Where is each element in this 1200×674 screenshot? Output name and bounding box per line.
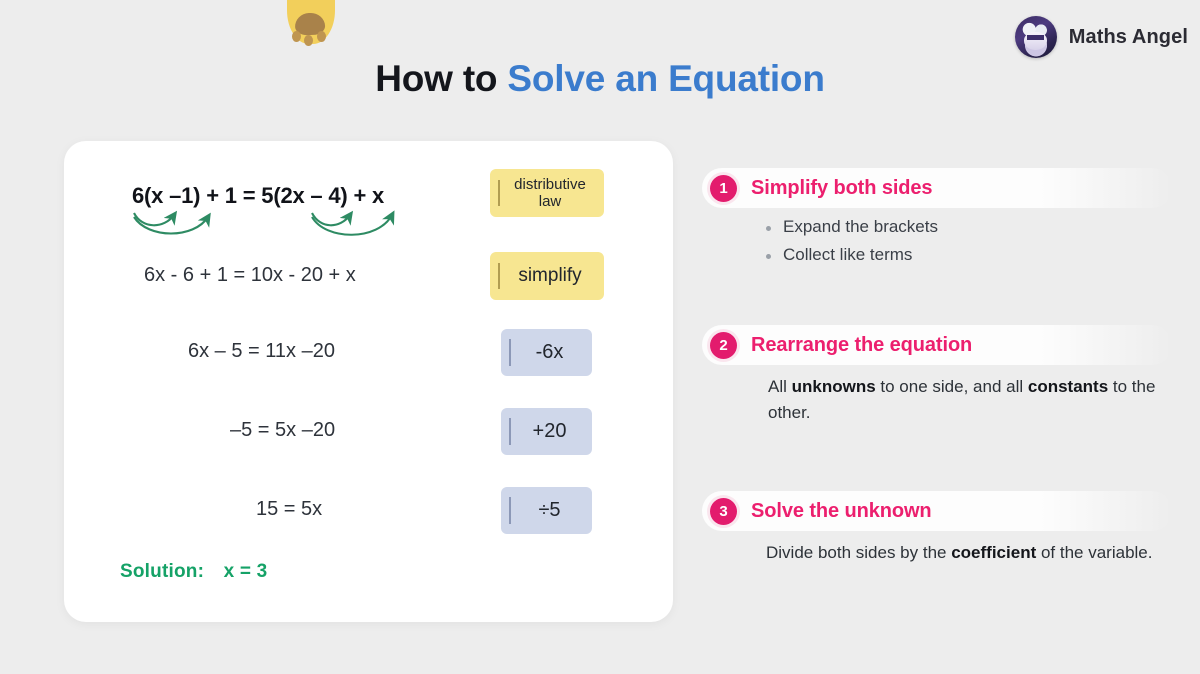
step-body: All unknowns to one side, and all consta…: [768, 374, 1172, 425]
step-number-badge: 1: [710, 175, 737, 202]
step-body: Divide both sides by the coefficient of …: [766, 540, 1172, 566]
step-bullet-list: Expand the brackets Collect like terms: [764, 217, 1172, 265]
page-title-prefix: How to: [375, 58, 507, 99]
distributive-arrows-icon: [126, 203, 436, 245]
note-text: All: [768, 377, 792, 396]
operation-badge: distributive law: [490, 169, 604, 217]
step-number-badge: 3: [710, 498, 737, 525]
equation-line: 15 = 5x: [256, 498, 322, 521]
operation-badge-label: distributive law: [504, 176, 604, 211]
equation-line: 6x – 5 = 11x –20: [188, 340, 335, 363]
brand-logo: Maths Angel: [1015, 16, 1188, 58]
instruction-step-1[interactable]: 1 Simplify both sides Expand the bracket…: [702, 168, 1172, 273]
note-emphasis: constants: [1028, 377, 1108, 396]
step-header: 2 Rearrange the equation: [702, 325, 1172, 365]
step-header: 1 Simplify both sides: [702, 168, 1172, 208]
operation-badge: ÷5: [501, 487, 592, 534]
cat-avatar-icon: [1015, 16, 1057, 58]
step-body: Expand the brackets Collect like terms: [764, 217, 1172, 265]
step-title: Solve the unknown: [751, 500, 932, 523]
badge-rule: [509, 418, 511, 444]
operation-badge-label: +20: [515, 420, 592, 443]
paw-toe: [317, 31, 326, 42]
paw-toe: [292, 31, 301, 42]
note-text: of the variable.: [1036, 543, 1152, 562]
operation-badge: +20: [501, 408, 592, 455]
step-number-badge: 2: [710, 332, 737, 359]
equation-line: 6(x –1) + 1 = 5(2x – 4) + x: [132, 183, 384, 209]
note-emphasis: unknowns: [792, 377, 876, 396]
step-note: All unknowns to one side, and all consta…: [768, 374, 1172, 425]
note-text: Divide both sides by the: [766, 543, 951, 562]
badge-rule: [498, 263, 500, 290]
infographic-canvas: Maths Angel How to Solve an Equation 6(x…: [0, 0, 1200, 674]
badge-rule: [509, 339, 511, 365]
list-item: Expand the brackets: [764, 217, 1172, 237]
note-text: to one side, and all: [876, 377, 1028, 396]
note-emphasis: coefficient: [951, 543, 1036, 562]
paw-toe: [304, 35, 313, 46]
page-title: How to Solve an Equation: [0, 58, 1200, 100]
equation-line: –5 = 5x –20: [230, 419, 335, 442]
operation-badge: -6x: [501, 329, 592, 376]
page-title-highlight: Solve an Equation: [507, 58, 824, 99]
badge-rule: [498, 180, 500, 207]
instruction-step-3[interactable]: 3 Solve the unknown Divide both sides by…: [702, 491, 1172, 566]
step-title: Rearrange the equation: [751, 334, 972, 357]
step-header: 3 Solve the unknown: [702, 491, 1172, 531]
solution-line: Solution: x = 3: [120, 561, 267, 583]
operation-badge: simplify: [490, 252, 604, 300]
instruction-step-2[interactable]: 2 Rearrange the equation All unknowns to…: [702, 325, 1172, 425]
equation-line: 6x - 6 + 1 = 10x - 20 + x: [144, 264, 356, 287]
step-note: Divide both sides by the coefficient of …: [766, 540, 1172, 566]
cat-paw-icon: [287, 0, 335, 46]
operation-badge-label: ÷5: [515, 499, 592, 522]
operation-badge-label: simplify: [504, 265, 604, 287]
operation-badge-label: -6x: [515, 341, 592, 364]
badge-rule: [509, 497, 511, 523]
worksheet-card: 6(x –1) + 1 = 5(2x – 4) + x distributive…: [64, 141, 673, 622]
list-item: Collect like terms: [764, 245, 1172, 265]
brand-name: Maths Angel: [1069, 26, 1188, 49]
solution-label: Solution:: [120, 561, 204, 582]
step-title: Simplify both sides: [751, 177, 932, 200]
solution-value: x = 3: [224, 561, 268, 582]
